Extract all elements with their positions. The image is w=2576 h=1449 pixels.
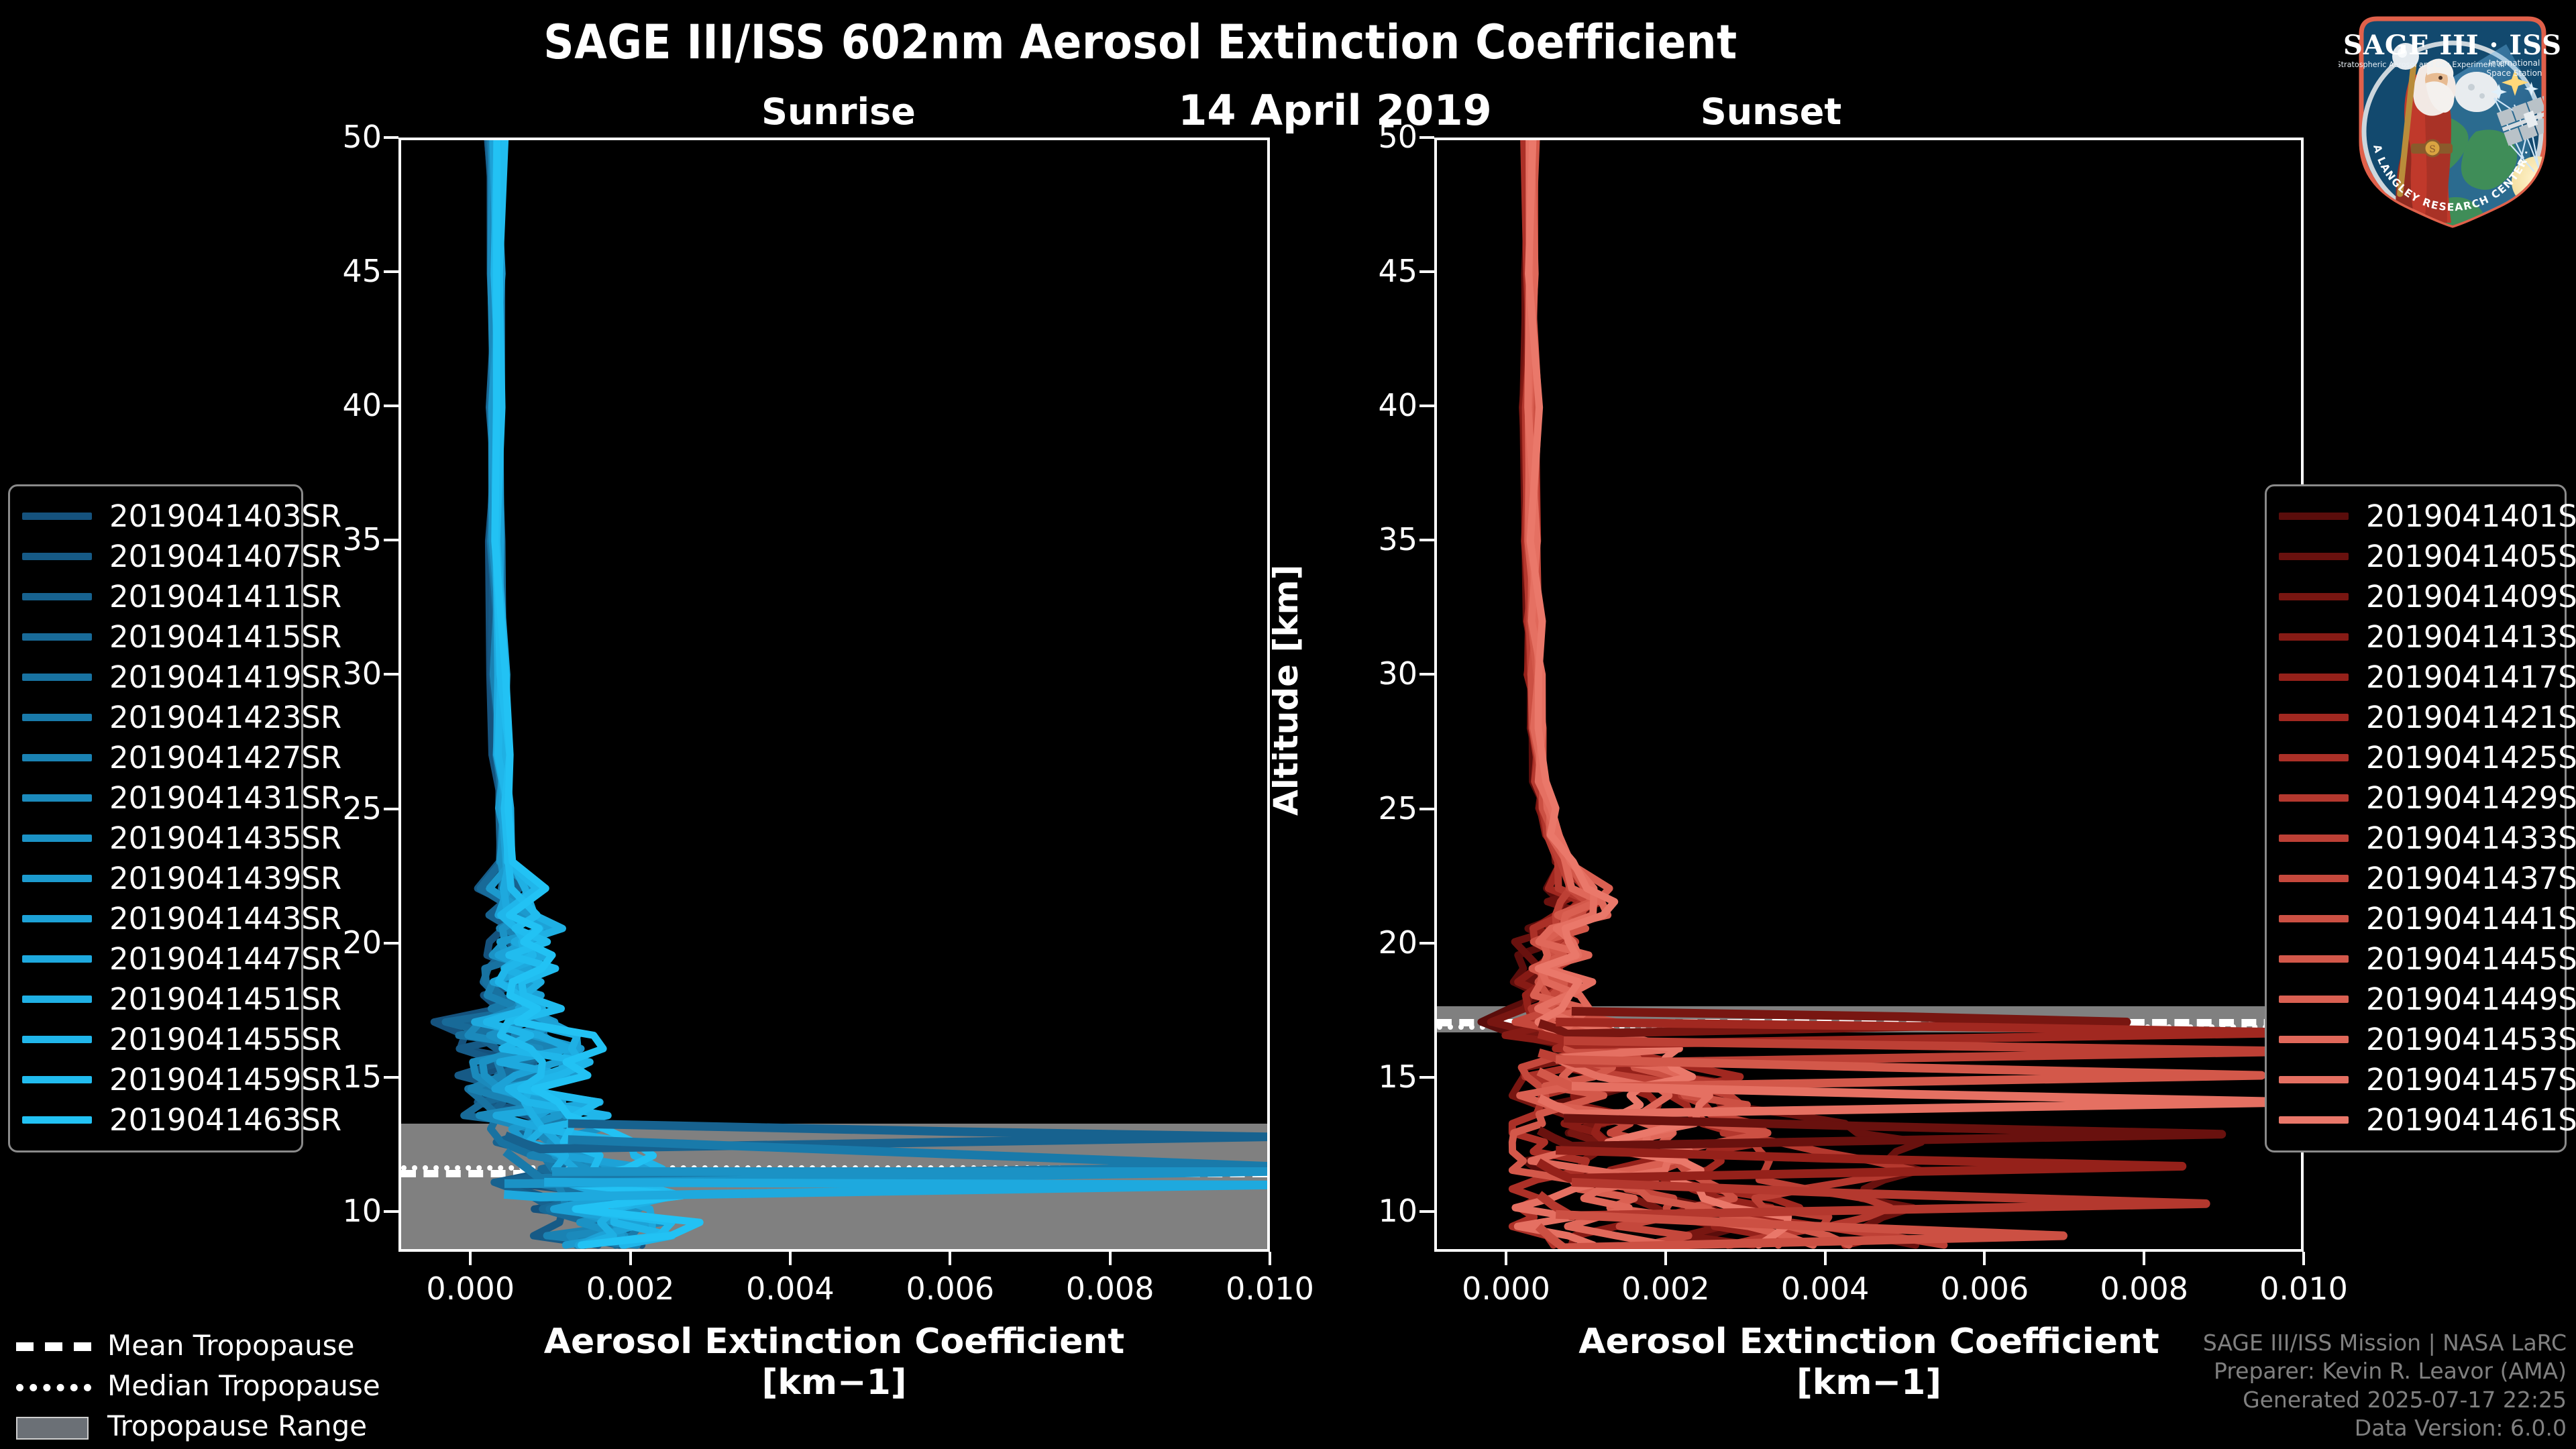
xtick-mark-sunset-4 — [2143, 1252, 2145, 1265]
shaded-box-icon — [16, 1417, 91, 1434]
legend-color-swatch — [22, 553, 92, 560]
legend-label: 2019041411SR — [109, 579, 341, 614]
plot-area-sunset — [1437, 140, 2301, 1249]
ytick-label-sunrise-40: 40 — [268, 387, 382, 423]
xtick-label-sunrise-5: 0.010 — [1189, 1271, 1350, 1307]
legend-item-sunrise-7[interactable]: 2019041431SR — [22, 777, 289, 818]
legend-label: 2019041407SR — [109, 539, 341, 574]
legend-item-sunset-12[interactable]: 2019041449SS — [2279, 979, 2553, 1019]
legend-label: 2019041433SS — [2366, 820, 2576, 856]
xtick-mark-sunrise-4 — [1109, 1252, 1112, 1265]
legend-color-swatch — [22, 674, 92, 681]
svg-text:S: S — [2429, 144, 2436, 155]
legend-label: 2019041441SS — [2366, 901, 2576, 936]
ytick-mark-sunrise-20 — [384, 942, 398, 945]
panel-header-sunset: Sunset — [1570, 91, 1972, 133]
patch-title: SAGE III · ISS — [2343, 30, 2562, 61]
legend-item-sunrise-9[interactable]: 2019041439SR — [22, 858, 289, 898]
legend-color-swatch — [22, 1036, 92, 1043]
legend-color-swatch — [22, 794, 92, 802]
profile-curves-sunset — [1437, 140, 2301, 1249]
patch-subtitle-right-1: International — [2489, 58, 2540, 68]
xtick-mark-sunrise-3 — [949, 1252, 951, 1265]
legend-item-sunrise-11[interactable]: 2019041447SR — [22, 938, 289, 979]
xtick-label-sunrise-3: 0.006 — [869, 1271, 1030, 1307]
legend-item-sunrise-12[interactable]: 2019041451SR — [22, 979, 289, 1019]
legend-item-sunrise-8[interactable]: 2019041435SR — [22, 818, 289, 858]
xtick-label-sunset-4: 0.008 — [2063, 1271, 2224, 1307]
legend-color-swatch — [2279, 513, 2349, 520]
xtick-label-sunset-5: 0.010 — [2223, 1271, 2384, 1307]
ytick-mark-sunset-10 — [1419, 1210, 1434, 1213]
ytick-label-sunset-50: 50 — [1303, 119, 1417, 155]
legend-item-sunrise-13[interactable]: 2019041455SR — [22, 1019, 289, 1059]
legend-color-swatch — [2279, 714, 2349, 721]
legend-label: 2019041463SR — [109, 1102, 341, 1138]
legend-label: 2019041421SS — [2366, 700, 2576, 735]
legend-label: 2019041457SS — [2366, 1062, 2576, 1097]
legend-item-sunset-13[interactable]: 2019041453SS — [2279, 1019, 2553, 1059]
page-title: SAGE III/ISS 602nm Aerosol Extinction Co… — [0, 15, 2281, 70]
legend-label: 2019041447SR — [109, 941, 341, 977]
legend-item-sunset-15[interactable]: 2019041461SS — [2279, 1099, 2553, 1140]
legend-color-swatch — [2279, 996, 2349, 1003]
ytick-label-sunrise-45: 45 — [268, 253, 382, 289]
ytick-mark-sunset-50 — [1419, 136, 1434, 139]
legend-label: 2019041437SS — [2366, 861, 2576, 896]
legend-item-sunrise-15[interactable]: 2019041463SR — [22, 1099, 289, 1140]
ytick-label-sunrise-50: 50 — [268, 119, 382, 155]
legend-label-tropopause-range: Tropopause Range — [107, 1409, 367, 1442]
tropopause-legend: Mean Tropopause Median Tropopause Tropop… — [16, 1325, 392, 1446]
ytick-mark-sunrise-45 — [384, 270, 398, 273]
ytick-mark-sunrise-15 — [384, 1076, 398, 1079]
legend-color-swatch — [2279, 553, 2349, 560]
legend-color-swatch — [22, 835, 92, 842]
legend-color-swatch — [22, 593, 92, 600]
xtick-mark-sunrise-5 — [1269, 1252, 1271, 1265]
legend-color-swatch — [2279, 593, 2349, 600]
legend-label: 2019041451SR — [109, 981, 341, 1017]
profile-curves-sunrise — [401, 140, 1267, 1249]
credit-line-1: SAGE III/ISS Mission | NASA LaRC — [2203, 1329, 2567, 1357]
legend-color-swatch — [22, 955, 92, 963]
ytick-label-sunset-15: 15 — [1303, 1059, 1417, 1095]
plot-panel-sunrise — [398, 138, 1270, 1252]
legend-color-swatch — [22, 1116, 92, 1124]
xtick-mark-sunrise-2 — [789, 1252, 792, 1265]
legend-label: 2019041419SR — [109, 659, 341, 695]
legend-item-sunset-5[interactable]: 2019041421SS — [2279, 697, 2553, 737]
legend-color-swatch — [22, 996, 92, 1003]
legend-color-swatch — [22, 1076, 92, 1083]
legend-color-swatch — [2279, 1076, 2349, 1083]
legend-sunrise[interactable]: 2019041403SR 2019041407SR 2019041411SR 2… — [8, 484, 303, 1152]
legend-label: 2019041427SR — [109, 740, 341, 775]
legend-label: 2019041417SS — [2366, 659, 2576, 695]
legend-color-swatch — [22, 714, 92, 721]
legend-label: 2019041401SS — [2366, 498, 2576, 534]
ytick-mark-sunset-30 — [1419, 673, 1434, 676]
ytick-mark-sunset-15 — [1419, 1076, 1434, 1079]
ytick-label-sunset-40: 40 — [1303, 387, 1417, 423]
ytick-label-sunrise-10: 10 — [268, 1193, 382, 1229]
ytick-mark-sunrise-10 — [384, 1210, 398, 1213]
plot-panel-sunset — [1434, 138, 2304, 1252]
ytick-label-sunset-25: 25 — [1303, 790, 1417, 826]
ytick-label-sunset-45: 45 — [1303, 253, 1417, 289]
legend-label: 2019041461SS — [2366, 1102, 2576, 1138]
legend-color-swatch — [2279, 835, 2349, 842]
ytick-mark-sunset-25 — [1419, 808, 1434, 810]
legend-item-sunset-2[interactable]: 2019041409SS — [2279, 576, 2553, 616]
xtick-mark-sunrise-0 — [469, 1252, 472, 1265]
legend-color-swatch — [2279, 955, 2349, 963]
legend-item-sunset-1[interactable]: 2019041405SS — [2279, 536, 2553, 576]
ytick-label-sunset-30: 30 — [1303, 655, 1417, 692]
legend-item-sunset-4[interactable]: 2019041417SS — [2279, 657, 2553, 697]
legend-label: 2019041445SS — [2366, 941, 2576, 977]
ytick-mark-sunset-40 — [1419, 405, 1434, 407]
legend-item-tropopause-range: Tropopause Range — [16, 1405, 392, 1446]
legend-color-swatch — [2279, 915, 2349, 922]
legend-label: 2019041415SR — [109, 619, 341, 655]
ytick-mark-sunrise-35 — [384, 539, 398, 541]
legend-item-sunrise-10[interactable]: 2019041443SR — [22, 898, 289, 938]
legend-label: 2019041429SS — [2366, 780, 2576, 816]
ytick-label-sunset-10: 10 — [1303, 1193, 1417, 1229]
xtick-mark-sunrise-1 — [629, 1252, 632, 1265]
legend-item-sunset-9[interactable]: 2019041437SS — [2279, 858, 2553, 898]
legend-color-swatch — [22, 915, 92, 922]
legend-item-sunrise-0[interactable]: 2019041403SR — [22, 496, 289, 536]
legend-color-swatch — [2279, 1036, 2349, 1043]
x-axis-label-sunrise: Aerosol Extinction Coefficient[km−1] — [318, 1322, 1350, 1404]
ytick-label-sunset-20: 20 — [1303, 924, 1417, 961]
legend-label: 2019041431SR — [109, 780, 341, 816]
xtick-label-sunset-0: 0.000 — [1426, 1271, 1587, 1307]
legend-item-sunset-0[interactable]: 2019041401SS — [2279, 496, 2553, 536]
legend-item-sunset-3[interactable]: 2019041413SS — [2279, 616, 2553, 657]
legend-label: 2019041423SR — [109, 700, 341, 735]
legend-label: 2019041405SS — [2366, 539, 2576, 574]
legend-color-swatch — [2279, 633, 2349, 641]
ytick-mark-sunset-20 — [1419, 942, 1434, 945]
legend-item-sunrise-1[interactable]: 2019041407SR — [22, 536, 289, 576]
xtick-label-sunrise-1: 0.002 — [550, 1271, 711, 1307]
credit-line-3: Generated 2025-07-17 22:25 — [2203, 1386, 2567, 1414]
legend-item-sunrise-6[interactable]: 2019041427SR — [22, 737, 289, 777]
legend-sunset[interactable]: 2019041401SS 2019041405SS 2019041409SS 2… — [2265, 484, 2567, 1152]
legend-item-mean-tropopause: Mean Tropopause — [16, 1325, 392, 1365]
credit-line-2: Preparer: Kevin R. Leavor (AMA) — [2203, 1357, 2567, 1385]
xtick-label-sunset-3: 0.006 — [1904, 1271, 2065, 1307]
plot-area-sunrise — [401, 140, 1267, 1249]
legend-label: 2019041459SR — [109, 1062, 341, 1097]
ytick-mark-sunrise-50 — [384, 136, 398, 139]
legend-label-median-tropopause: Median Tropopause — [107, 1369, 380, 1402]
ytick-label-sunset-35: 35 — [1303, 521, 1417, 557]
credit-line-4: Data Version: 6.0.0 — [2203, 1414, 2567, 1442]
legend-color-swatch — [2279, 674, 2349, 681]
legend-item-sunrise-3[interactable]: 2019041415SR — [22, 616, 289, 657]
y-axis-label-sunset: Altitude [km] — [1267, 564, 1305, 816]
legend-item-sunset-10[interactable]: 2019041441SS — [2279, 898, 2553, 938]
xtick-mark-sunset-2 — [1824, 1252, 1827, 1265]
legend-label: 2019041435SR — [109, 820, 341, 856]
legend-label: 2019041403SR — [109, 498, 341, 534]
legend-label: 2019041409SS — [2366, 579, 2576, 614]
legend-color-swatch — [22, 875, 92, 882]
legend-item-sunrise-2[interactable]: 2019041411SR — [22, 576, 289, 616]
xtick-mark-sunset-3 — [1983, 1252, 1986, 1265]
patch-subtitle-left: Stratospheric Aerosol and Gas Experiment… — [2339, 60, 2504, 69]
legend-color-swatch — [2279, 754, 2349, 761]
legend-item-sunrise-4[interactable]: 2019041419SR — [22, 657, 289, 697]
legend-color-swatch — [22, 754, 92, 761]
legend-color-swatch — [2279, 875, 2349, 882]
legend-item-sunset-11[interactable]: 2019041445SS — [2279, 938, 2553, 979]
xtick-label-sunset-2: 0.004 — [1745, 1271, 1906, 1307]
legend-item-sunset-7[interactable]: 2019041429SS — [2279, 777, 2553, 818]
legend-label-mean-tropopause: Mean Tropopause — [107, 1329, 354, 1362]
legend-item-sunset-14[interactable]: 2019041457SS — [2279, 1059, 2553, 1099]
patch-subtitle-right-2: Space Station — [2486, 68, 2542, 78]
legend-color-swatch — [2279, 1116, 2349, 1124]
legend-item-sunrise-14[interactable]: 2019041459SR — [22, 1059, 289, 1099]
xtick-label-sunrise-4: 0.008 — [1030, 1271, 1191, 1307]
legend-label: 2019041443SR — [109, 901, 341, 936]
xtick-mark-sunset-1 — [1664, 1252, 1667, 1265]
legend-color-swatch — [2279, 794, 2349, 802]
legend-label: 2019041453SS — [2366, 1022, 2576, 1057]
ytick-mark-sunrise-30 — [384, 673, 398, 676]
dashed-line-icon — [16, 1336, 91, 1354]
legend-label: 2019041449SS — [2366, 981, 2576, 1017]
xtick-label-sunrise-2: 0.004 — [710, 1271, 871, 1307]
legend-label: 2019041439SR — [109, 861, 341, 896]
xtick-mark-sunset-5 — [2302, 1252, 2305, 1265]
xtick-label-sunrise-0: 0.000 — [390, 1271, 551, 1307]
legend-item-sunset-6[interactable]: 2019041425SS — [2279, 737, 2553, 777]
legend-label: 2019041425SS — [2366, 740, 2576, 775]
legend-item-median-tropopause: Median Tropopause — [16, 1365, 392, 1405]
dotted-line-icon — [16, 1377, 91, 1394]
ytick-mark-sunrise-25 — [384, 808, 398, 810]
legend-color-swatch — [22, 513, 92, 520]
legend-item-sunset-8[interactable]: 2019041433SS — [2279, 818, 2553, 858]
legend-label: 2019041455SR — [109, 1022, 341, 1057]
xtick-mark-sunset-0 — [1505, 1252, 1507, 1265]
ytick-mark-sunset-35 — [1419, 539, 1434, 541]
legend-color-swatch — [22, 633, 92, 641]
credits-block: SAGE III/ISS Mission | NASA LaRC Prepare… — [2203, 1329, 2567, 1442]
legend-item-sunrise-5[interactable]: 2019041423SR — [22, 697, 289, 737]
panel-header-sunrise: Sunrise — [637, 91, 1040, 133]
legend-label: 2019041413SS — [2366, 619, 2576, 655]
ytick-mark-sunrise-40 — [384, 405, 398, 407]
sage-mission-patch-logo: S BALL · NASA LANGLEY RESEARCH CENTER · … — [2339, 4, 2567, 232]
ytick-mark-sunset-45 — [1419, 270, 1434, 273]
xtick-label-sunset-1: 0.002 — [1585, 1271, 1746, 1307]
